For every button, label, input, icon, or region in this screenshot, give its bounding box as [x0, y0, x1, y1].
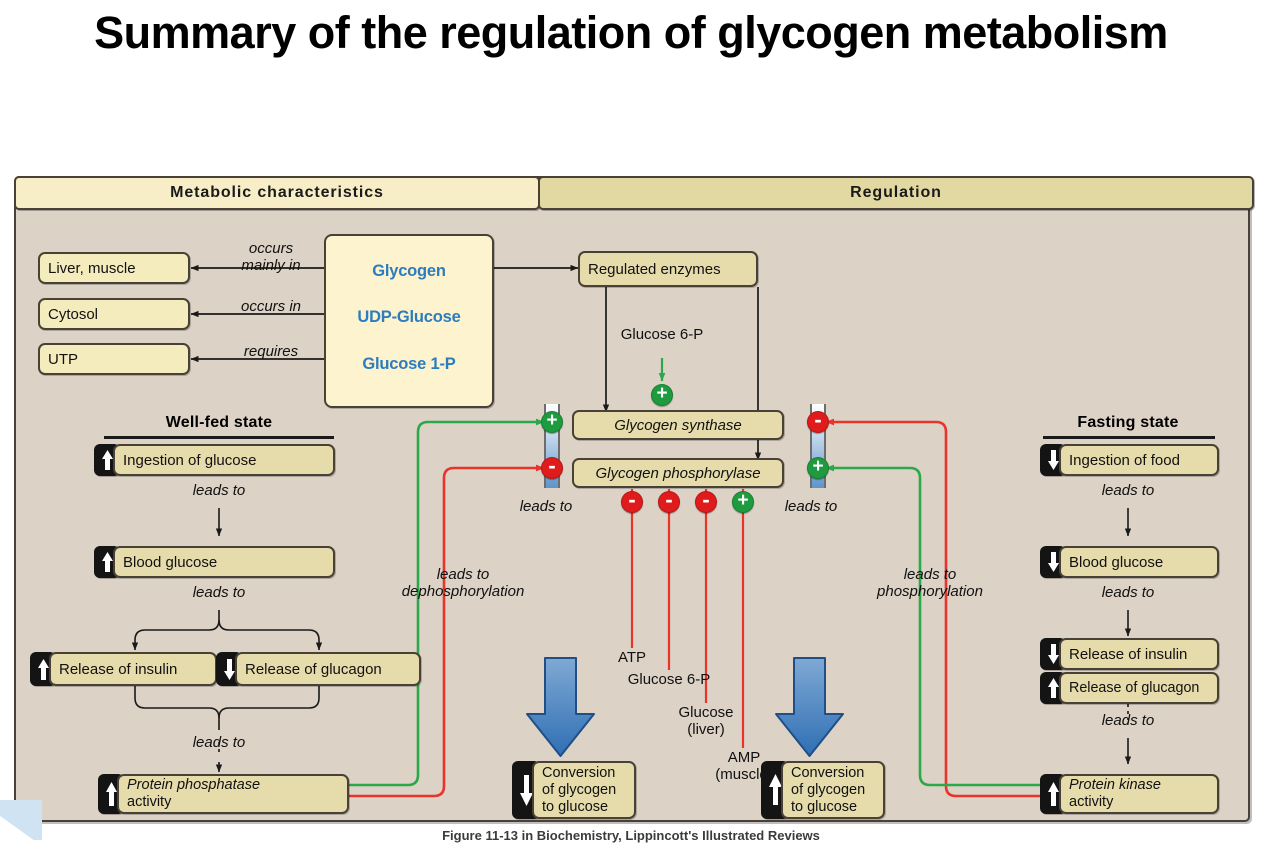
badge-right-phosphorylase-positive: + — [807, 457, 829, 479]
fasting-heading: Fasting state — [1028, 414, 1228, 432]
relation-label-requires: requires — [212, 343, 330, 360]
metabolic-property-1-label: Cytosol — [40, 306, 188, 323]
fasting-step-1-label: Blood glucose — [1061, 554, 1217, 571]
badge-positive-glucose-6-p: + — [651, 384, 673, 406]
fasting-step-blood-glucose: Blood glucose — [1059, 546, 1219, 578]
well-fed-leads-to-2: leads to — [159, 584, 279, 601]
badge-effector-amp-muscle: + — [732, 491, 754, 513]
fasting-connector-label: leads to phosphorylation — [854, 566, 1006, 600]
well-fed-step-0-label: Ingestion of glucose — [115, 452, 333, 469]
fasting-hormone-release-of-glucagon: Release of glucagon — [1059, 672, 1219, 704]
badge-left-synthase-positive: + — [541, 411, 563, 433]
figure-caption: Figure 11-13 in Biochemistry, Lippincott… — [0, 828, 1262, 843]
well-fed-step-ingestion-of-glucose: Ingestion of glucose — [113, 444, 335, 476]
fasting-leads-to-3: leads to — [1068, 712, 1188, 729]
fasting-rule — [1043, 436, 1215, 439]
well-fed-leads-to-3: leads to — [159, 734, 279, 751]
badge-right-synthase-negative: - — [807, 411, 829, 433]
fasting-step-0-label: Ingestion of food — [1061, 452, 1217, 469]
well-fed-connector-label: leads to dephosphorylation — [399, 566, 527, 600]
well-fed-hormone-release-of-glucagon: Release of glucagon — [235, 652, 421, 686]
metabolic-property-2-label: UTP — [40, 351, 188, 368]
enzyme-glycogen-synthase: Glycogen synthase — [572, 410, 784, 440]
fasting-hormone-release-of-insulin: Release of insulin — [1059, 638, 1219, 670]
fasting-effector-line2: activity — [1069, 794, 1209, 811]
well-fed-effector-line1: Protein phosphatase — [127, 777, 339, 794]
well-fed-step-blood-glucose: Blood glucose — [113, 546, 335, 578]
slider-right-leads-to: leads to — [768, 498, 854, 515]
well-fed-hormone-0-label: Release of insulin — [51, 661, 215, 678]
regulated-enzymes-box: Regulated enzymes — [578, 251, 758, 287]
cycle-node-glucose-1-p: Glucose 1-P — [326, 355, 492, 374]
enzyme-glycogen-phosphorylase: Glycogen phosphorylase — [572, 458, 784, 488]
well-fed-step-1-label: Blood glucose — [115, 554, 333, 571]
enzyme-0-label: Glycogen synthase — [574, 417, 782, 434]
cycle-node-udp-glucose: UDP-Glucose — [326, 308, 492, 327]
well-fed-hormone-1-label: Release of glucagon — [237, 661, 419, 678]
well-fed-effector-protein-phosphatase: Protein phosphatase activity — [117, 774, 349, 814]
metabolic-property-cytosol: Cytosol — [38, 298, 190, 330]
fasting-step-ingestion-of-food: Ingestion of food — [1059, 444, 1219, 476]
outcome-box-right: Conversion of glycogen to glucose — [781, 761, 885, 819]
diagram-figure: Metabolic characteristics Regulation — [14, 176, 1250, 822]
glycogen-cycle-panel: Glycogen UDP-Glucose Glucose 1-P — [324, 234, 494, 408]
outcome-right-text: Conversion of glycogen to glucose — [783, 765, 883, 816]
fasting-leads-to-1: leads to — [1068, 482, 1188, 499]
slider-left-leads-to: leads to — [503, 498, 589, 515]
outcome-left-text: Conversion of glycogen to glucose — [534, 765, 634, 816]
cycle-node-glycogen: Glycogen — [326, 262, 492, 281]
effector-label-glucose-6-p: Glucose 6-P — [602, 671, 736, 688]
fasting-effector-protein-kinase: Protein kinase activity — [1059, 774, 1219, 814]
well-fed-effector-line2: activity — [127, 794, 339, 811]
outcome-box-left: Conversion of glycogen to glucose — [532, 761, 636, 819]
metabolic-property-utp: UTP — [38, 343, 190, 375]
badge-effector-glucose-6-p: - — [658, 491, 680, 513]
well-fed-rule — [104, 436, 334, 439]
enzyme-1-label: Glycogen phosphorylase — [574, 465, 782, 482]
well-fed-hormone-release-of-insulin: Release of insulin — [49, 652, 217, 686]
metabolic-property-0-label: Liver, muscle — [40, 260, 188, 277]
well-fed-leads-to-1: leads to — [159, 482, 279, 499]
allosteric-label-glucose-6-p: Glucose 6-P — [602, 326, 722, 343]
badge-effector-atp: - — [621, 491, 643, 513]
fasting-hormone-1-label: Release of glucagon — [1061, 680, 1217, 696]
fasting-hormone-0-label: Release of insulin — [1061, 646, 1217, 663]
metabolic-property-liver-muscle: Liver, muscle — [38, 252, 190, 284]
fasting-leads-to-2: leads to — [1068, 584, 1188, 601]
badge-effector-glucose-liver: - — [695, 491, 717, 513]
relation-label-occurs-in: occurs in — [212, 298, 330, 315]
regulated-enzymes-label: Regulated enzymes — [580, 261, 756, 278]
fasting-effector-line1: Protein kinase — [1069, 777, 1209, 794]
effector-label-glucose-liver: Glucose (liver) — [649, 704, 763, 738]
badge-left-phosphorylase-negative: - — [541, 457, 563, 479]
page-title: Summary of the regulation of glycogen me… — [0, 6, 1262, 60]
effector-label-atp: ATP — [582, 649, 682, 666]
relation-label-occurs-mainly-in: occurs mainly in — [212, 240, 330, 274]
well-fed-heading: Well-fed state — [119, 414, 319, 432]
